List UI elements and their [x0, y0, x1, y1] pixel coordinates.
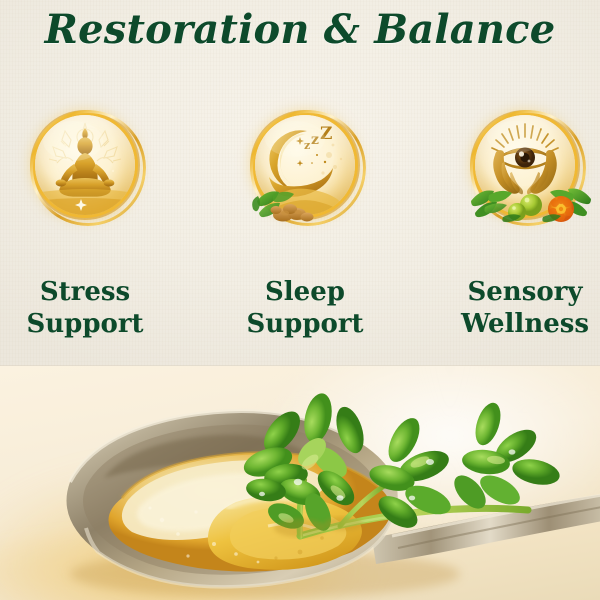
- feature-label-line2: Wellness: [435, 308, 600, 340]
- feature-label-line2: Support: [215, 308, 395, 340]
- features-panel: Restoration & Balance: [0, 0, 600, 366]
- feature-icon-row: Stress Support: [0, 108, 600, 238]
- feature-label-sensory-wellness: Sensory Wellness: [435, 276, 600, 340]
- feature-item-sleep-support[interactable]: z z Z: [215, 108, 395, 238]
- crescent-moon-sleep-gold-badge-icon: z z Z: [253, 113, 357, 217]
- feature-item-stress-support[interactable]: Stress Support: [0, 108, 175, 238]
- feature-label-line1: Sleep: [215, 276, 395, 308]
- feature-label-line2: Support: [0, 308, 175, 340]
- page-title: Restoration & Balance: [0, 6, 600, 53]
- feature-item-sensory-wellness[interactable]: Sensory Wellness: [435, 108, 600, 238]
- feature-label-line1: Stress: [0, 276, 175, 308]
- feature-label-stress-support: Stress Support: [0, 276, 175, 340]
- feature-label-line1: Sensory: [435, 276, 600, 308]
- feature-label-sleep-support: Sleep Support: [215, 276, 395, 340]
- spoon-of-golden-ghee-with-green-herb-sprig-photo: [0, 366, 600, 600]
- ginger-root-and-leaves-icon: [249, 165, 361, 223]
- meditation-lotus-gold-badge-icon: [33, 113, 137, 217]
- eye-in-cupped-hands-gold-badge-icon: [473, 113, 577, 217]
- herbs-fruits-and-marigold-icon: [469, 165, 593, 225]
- promo-graphic-root: Restoration & Balance: [0, 0, 600, 600]
- photo-artwork: [0, 366, 600, 600]
- meditating-figure-icon: [35, 115, 135, 215]
